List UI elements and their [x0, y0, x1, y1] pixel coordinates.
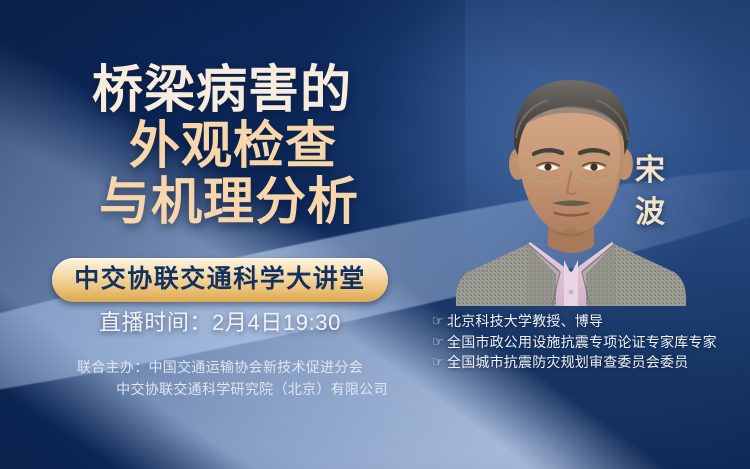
live-time: 直播时间：2月4日19:30 — [0, 308, 440, 338]
webinar-poster: 宋 波 ☞ 北京科技大学教授、博导 ☞ 全国市政公用设施抗震专项论证专家库专家 … — [0, 0, 750, 469]
credential-text: 全国市政公用设施抗震专项论证专家库专家 — [447, 332, 717, 353]
poster-title: 桥梁病害的 外观检查 与机理分析 — [0, 62, 440, 230]
title-line-2: 外观检查 — [0, 118, 440, 174]
left-content-column: 桥梁病害的 外观检查 与机理分析 中交协联交通科学大讲堂 直播时间：2月4日19… — [0, 0, 440, 469]
pointing-hand-icon: ☞ — [432, 352, 447, 373]
speaker-name-char-1: 宋 — [627, 150, 673, 192]
speaker-name-char-2: 波 — [627, 192, 673, 234]
pointing-hand-icon: ☞ — [432, 332, 447, 353]
credential-text: 北京科技大学教授、博导 — [447, 311, 603, 332]
pointing-hand-icon: ☞ — [432, 311, 447, 332]
credential-item: ☞ 北京科技大学教授、博导 — [432, 311, 717, 332]
title-line-3: 与机理分析 — [0, 174, 440, 230]
title-line-1: 桥梁病害的 — [0, 62, 440, 118]
credential-item: ☞ 全国市政公用设施抗震专项论证专家库专家 — [432, 332, 717, 353]
organizers: 联合主办：中国交通运输协会新技术促进分会 中交协联交通科学研究院（北京）有限公司 — [0, 356, 440, 400]
credential-item: ☞ 全国城市抗震防灾规划审查委员会委员 — [432, 352, 717, 373]
credential-text: 全国城市抗震防灾规划审查委员会委员 — [447, 352, 688, 373]
organizer-line-1: 联合主办：中国交通运输协会新技术促进分会 — [0, 356, 440, 378]
speaker-name: 宋 波 — [627, 150, 673, 234]
series-badge-wrapper: 中交协联交通科学大讲堂 — [0, 258, 440, 302]
organizer-line-2: 中交协联交通科学研究院（北京）有限公司 — [0, 378, 440, 400]
speaker-credentials: ☞ 北京科技大学教授、博导 ☞ 全国市政公用设施抗震专项论证专家库专家 ☞ 全国… — [432, 311, 717, 373]
series-badge: 中交协联交通科学大讲堂 — [52, 258, 388, 302]
